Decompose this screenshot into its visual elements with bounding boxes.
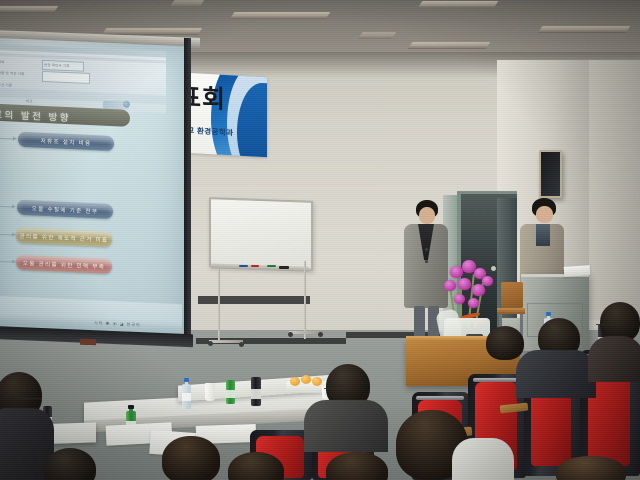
dialog-line: 기초 자료 [0, 59, 4, 65]
tangerine [290, 377, 300, 386]
whiteboard-post [218, 269, 220, 341]
recessed-fluorescent-light [418, 1, 499, 8]
audience-person [162, 436, 220, 480]
eyeglasses [596, 324, 620, 329]
water-bottle[interactable] [182, 379, 191, 409]
whiteboard-base [209, 340, 243, 343]
audience-person [228, 452, 284, 480]
audience-shoulders [304, 400, 388, 452]
whiteboard-caster [318, 332, 323, 337]
orchid-bloom [468, 298, 479, 308]
orchid-bloom [458, 278, 471, 290]
paper-cup[interactable] [205, 383, 215, 401]
tangerine [301, 375, 311, 384]
right-wall [589, 60, 640, 320]
recessed-fluorescent-light [170, 0, 205, 7]
green-beverage-can[interactable] [226, 380, 235, 404]
audience-shoulders [588, 336, 640, 382]
whiteboard-caster [288, 332, 293, 337]
whiteboard-caster [208, 341, 213, 346]
face [419, 207, 435, 224]
dialog-line: 비고 [26, 98, 33, 103]
audience-shoulders [516, 350, 596, 398]
audience-shoulders [452, 438, 514, 480]
orchid-bloom [482, 276, 493, 286]
dialog-line: 설치 요건 기준 [0, 82, 12, 88]
whiteboard-marker[interactable] [251, 265, 259, 267]
whiteboard-surface[interactable] [209, 197, 313, 271]
orchid-bloom [472, 284, 485, 296]
orchid-bloom [444, 280, 456, 291]
screen-right-edge [184, 38, 191, 338]
slide-pill: 오물 수질에 기준 전무 [17, 200, 113, 219]
recessed-fluorescent-light [0, 6, 58, 13]
recessed-fluorescent-light [230, 12, 331, 19]
scarf [536, 224, 550, 246]
screen-surface: 기초 자료 관리 현황 및 개선 사항 설치 요건 기준 현장 확인서 기록 비… [0, 38, 188, 337]
screen-pull-tab [80, 339, 96, 346]
slide-dialog-overlay: 기초 자료 관리 현황 및 개선 사항 설치 요건 기준 현장 확인서 기록 비… [0, 43, 166, 113]
whiteboard-marker[interactable] [239, 265, 248, 267]
whiteboard-marker[interactable] [279, 266, 289, 269]
recessed-fluorescent-light [408, 42, 491, 49]
connector-arrow-icon [13, 137, 17, 141]
photo-scene: 발표회 표회 대구대학교 환경공학과 기초 자료 관리 현황 및 개선 사항 설… [0, 0, 640, 480]
black-beverage-can[interactable] [251, 377, 261, 406]
tangerine [312, 377, 322, 386]
audience-person [556, 456, 626, 480]
pull-down-projection-screen: 기초 자료 관리 현황 및 개선 사항 설치 요건 기준 현장 확인서 기록 비… [0, 34, 209, 344]
slide-logo-mark-icon [123, 101, 130, 108]
wall-speaker [539, 150, 562, 198]
recessed-fluorescent-light [358, 32, 397, 39]
dialog-line: 관리 현황 및 개선 사항 [0, 70, 24, 77]
slide-pill: 오물 관리를 위한 인력 부족 [16, 255, 112, 274]
slide-pill: 관리를 위한 제도적 근거 미흡 [16, 228, 112, 247]
whiteboard-caster [239, 342, 244, 347]
whiteboard-marker[interactable] [267, 265, 276, 267]
orchid-bloom [454, 294, 465, 304]
mobile-whiteboard[interactable] [209, 199, 313, 349]
recessed-fluorescent-light [538, 26, 631, 33]
face [536, 206, 553, 223]
eyeglasses [14, 398, 42, 403]
whiteboard-post [304, 261, 306, 339]
audience-person [486, 326, 524, 360]
audience-person [44, 448, 96, 480]
podium-papers [564, 265, 591, 277]
connector-arrow-icon [12, 205, 16, 209]
eyeglasses [324, 388, 346, 393]
audience-person [326, 452, 388, 480]
